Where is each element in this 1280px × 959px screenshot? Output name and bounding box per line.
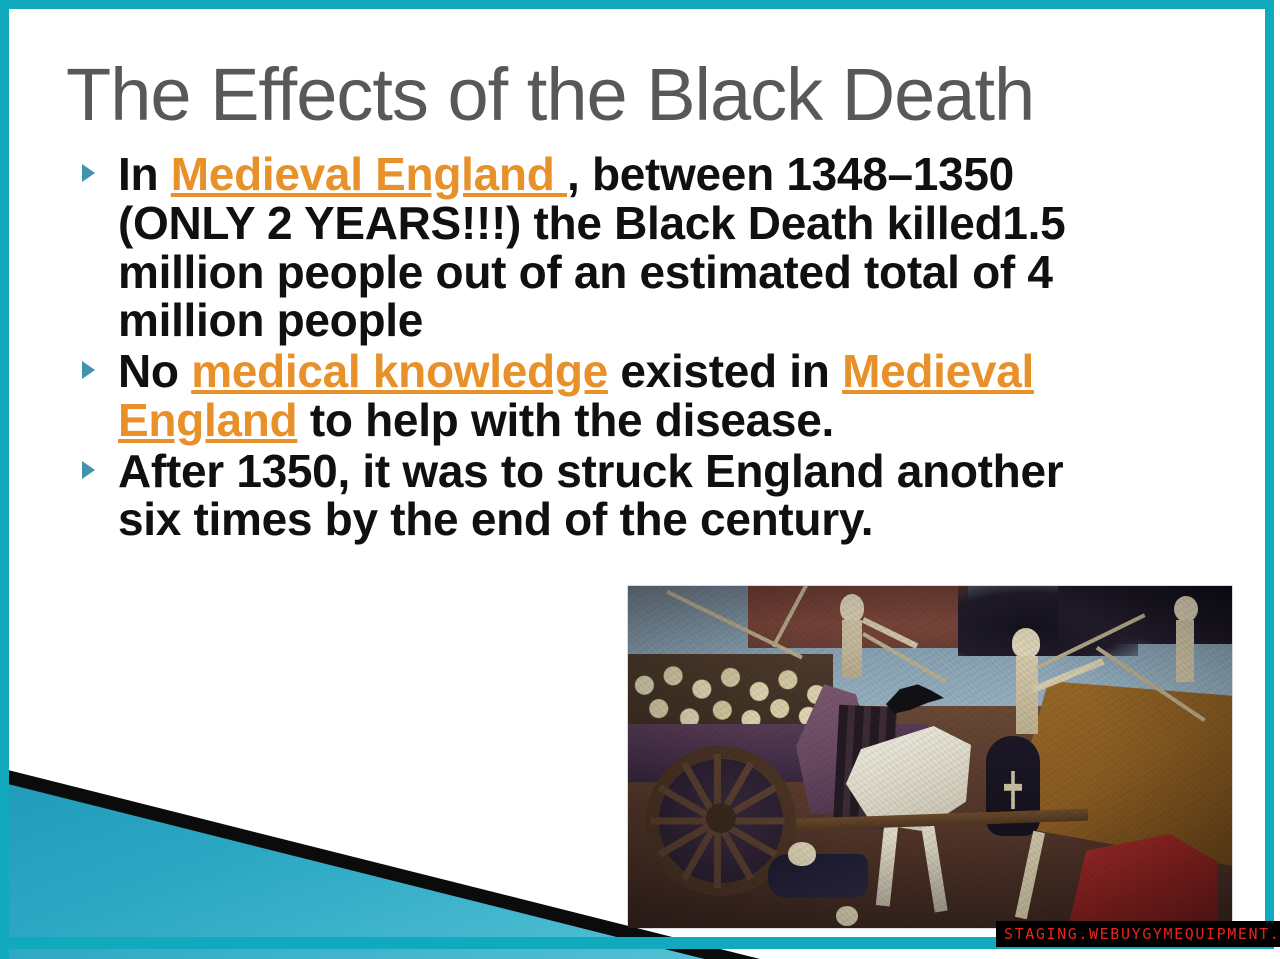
triangle-bullet-icon (82, 461, 95, 479)
list-item: After 1350, it was to struck England ano… (74, 447, 1104, 545)
bullet-segment-text: existed in (608, 345, 842, 397)
slide-border-top (0, 0, 1272, 9)
slide-body: In Medieval England , between 1348–1350 … (74, 150, 1104, 546)
painting-vignette (628, 586, 1232, 928)
link-medical-knowledge[interactable]: medical knowledge (191, 345, 608, 397)
slide-border-left (0, 0, 9, 959)
slide-border-right (1265, 0, 1274, 945)
bullet-segment-text: In (118, 148, 171, 200)
slide-title: The Effects of the Black Death (66, 58, 1186, 132)
slide-canvas: The Effects of the Black Death In Mediev… (0, 0, 1280, 959)
black-death-painting-image (628, 586, 1232, 928)
bullet-text: After 1350, it was to struck England ano… (118, 445, 1063, 546)
site-watermark: STAGING.WEBUYGYMEQUIPMENT.COM (996, 921, 1280, 947)
triangle-bullet-icon (82, 164, 95, 182)
bullet-segment-text: to help with the disease. (297, 394, 834, 446)
bullet-text: No medical knowledge existed in Medieval… (118, 345, 1034, 446)
triangle-bullet-icon (82, 361, 95, 379)
list-item: No medical knowledge existed in Medieval… (74, 347, 1104, 445)
list-item: In Medieval England , between 1348–1350 … (74, 150, 1104, 345)
bullet-text: In Medieval England , between 1348–1350 … (118, 148, 1065, 346)
link-medieval-england[interactable]: Medieval England (171, 148, 567, 200)
bullet-segment-text: No (118, 345, 191, 397)
